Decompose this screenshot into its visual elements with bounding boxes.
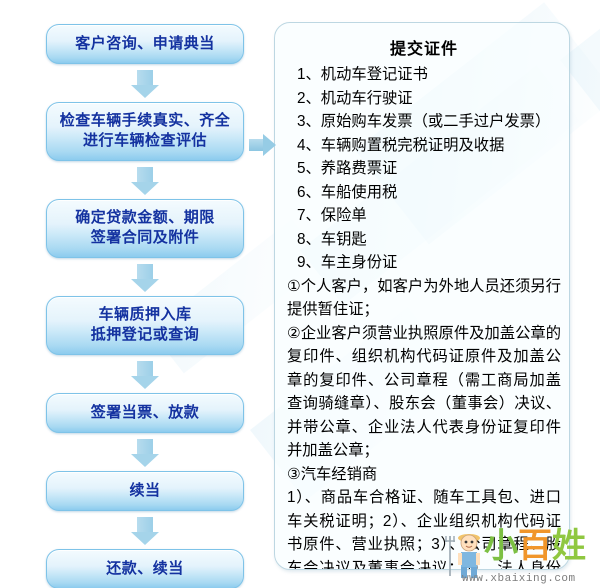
watermark-char-2: 百 — [518, 528, 552, 565]
list-item: 6、车船使用税 — [297, 181, 561, 205]
panel-title: 提交证件 — [287, 35, 561, 59]
documents-panel: 提交证件 1、机动车登记证书 2、机动车行驶证 3、原始购车发票（或二手过户发票… — [274, 22, 570, 570]
flow-node-label: 检查车辆手续真实、齐全 — [51, 111, 239, 131]
flow-node-3[interactable]: 确定贷款金额、期限 签署合同及附件 — [46, 199, 244, 258]
list-item: 9、车主身份证 — [297, 251, 561, 275]
flow-node-label: 客户咨询、申请典当 — [51, 34, 239, 54]
down-arrow-icon — [46, 355, 244, 393]
flow-node-7[interactable]: 还款、续当 — [46, 549, 244, 588]
right-arrow-icon — [249, 134, 277, 156]
note-paragraph-enterprise: ②企业客户须营业执照原件及加盖公章的复印件、组织机构代码证原件及加盖公章的复印件… — [287, 322, 561, 463]
list-item: 3、原始购车发票（或二手过户发票） — [297, 110, 561, 134]
list-item: 4、车辆购置税完税证明及收据 — [297, 134, 561, 158]
flow-node-label: 还款、续当 — [51, 559, 239, 579]
list-item: 8、车钥匙 — [297, 228, 561, 252]
list-item: 5、养路费票证 — [297, 157, 561, 181]
site-watermark: 小百姓 www.xbaixing.com — [444, 524, 596, 586]
flow-node-4[interactable]: 车辆质押入库 抵押登记或查询 — [46, 296, 244, 355]
note-paragraph-dealer-heading: ③汽车经销商 — [287, 463, 561, 487]
document-list: 1、机动车登记证书 2、机动车行驶证 3、原始购车发票（或二手过户发票） 4、车… — [287, 63, 561, 275]
flow-node-label: 进行车辆检查评估 — [51, 131, 239, 151]
process-flowchart: 客户咨询、申请典当 检查车辆手续真实、齐全 进行车辆检查评估 确定贷款金额、期限… — [46, 24, 246, 588]
flow-node-label: 抵押登记或查询 — [51, 325, 239, 345]
watermark-url: www.xbaixing.com — [462, 573, 576, 585]
down-arrow-icon — [46, 433, 244, 471]
list-item: 1、机动车登记证书 — [297, 63, 561, 87]
down-arrow-icon — [46, 161, 244, 199]
note-paragraph-individual: ①个人客户，如客户为外地人员还须另行提供暂住证； — [287, 275, 561, 322]
flow-node-label: 续当 — [51, 481, 239, 501]
flow-node-6[interactable]: 续当 — [46, 471, 244, 511]
flowchart-page: 客户咨询、申请典当 检查车辆手续真实、齐全 进行车辆检查评估 确定贷款金额、期限… — [0, 0, 600, 588]
flow-node-label: 签署合同及附件 — [51, 228, 239, 248]
down-arrow-icon — [46, 511, 244, 549]
flow-node-label: 车辆质押入库 — [51, 305, 239, 325]
list-item: 7、保险单 — [297, 204, 561, 228]
down-arrow-icon — [46, 64, 244, 102]
flow-node-5[interactable]: 签署当票、放款 — [46, 393, 244, 433]
watermark-brand: 小百姓 — [484, 528, 586, 566]
down-arrow-icon — [46, 258, 244, 296]
watermark-char-3: 姓 — [552, 528, 586, 565]
list-item: 2、机动车行驶证 — [297, 87, 561, 111]
flow-node-1[interactable]: 客户咨询、申请典当 — [46, 24, 244, 64]
flow-node-2[interactable]: 检查车辆手续真实、齐全 进行车辆检查评估 — [46, 102, 244, 161]
watermark-char-1: 小 — [484, 528, 518, 565]
flow-node-label: 确定贷款金额、期限 — [51, 208, 239, 228]
flow-node-label: 签署当票、放款 — [51, 403, 239, 423]
